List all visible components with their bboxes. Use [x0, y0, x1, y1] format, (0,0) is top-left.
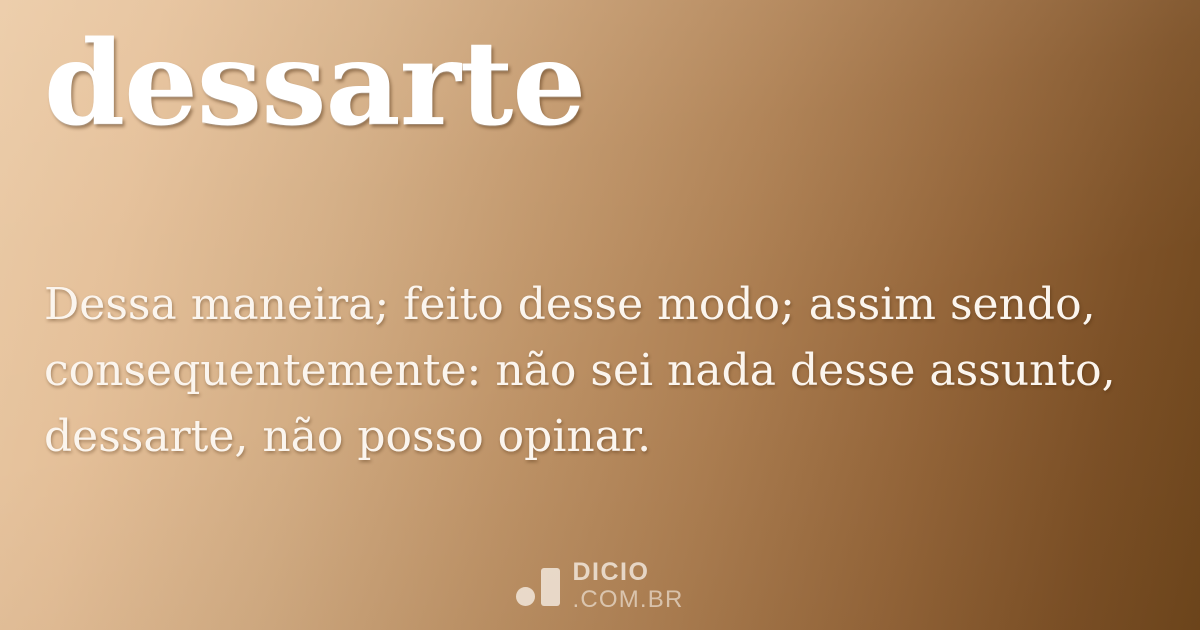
circle-and-bar-icon [516, 566, 560, 606]
logo-name: DICIO [572, 560, 683, 585]
logo-tld: .COM.BR [572, 588, 683, 612]
share-card: dessarte Dessa maneira; feito desse modo… [0, 0, 1200, 630]
definition-text: Dessa maneira; feito desse modo; assim s… [44, 272, 1160, 470]
logo-bar-shape [541, 568, 560, 606]
logo-dot-shape [516, 587, 535, 606]
logo-wordmark: DICIO .COM.BR [572, 560, 683, 612]
dicio-logo: DICIO .COM.BR [0, 560, 1200, 612]
page-title: dessarte [44, 24, 585, 146]
